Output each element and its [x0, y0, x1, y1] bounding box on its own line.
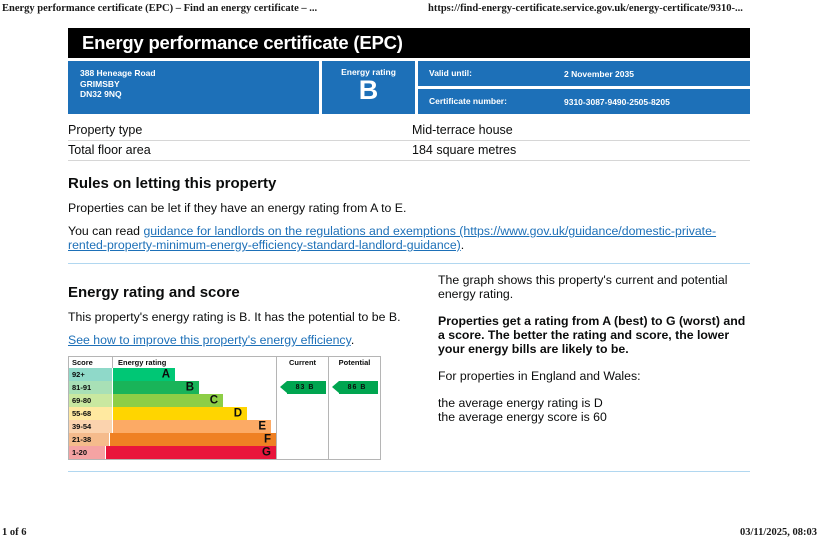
epc-band-letter: A [162, 369, 170, 381]
epc-current-value: 83 B [287, 381, 323, 394]
epc-bands: Score Energy rating 92+ A 81-91 B 69-80 … [69, 357, 276, 459]
certificate-page: Energy performance certificate (EPC) 388… [68, 28, 750, 472]
epc-band-b: 81-91 B [69, 381, 276, 394]
rules-paragraph-1: Properties can be let if they have an en… [68, 201, 750, 215]
epc-band-letter: C [210, 395, 218, 407]
epc-potential-value: 86 B [339, 381, 375, 394]
print-header: Energy performance certificate (EPC) – F… [0, 3, 820, 17]
energy-rating-letter: B [322, 76, 415, 104]
average-score-text: the average energy score is 60 [438, 410, 750, 424]
address-line-1: 388 Heneage Road [80, 68, 319, 79]
rating-paragraph: This property's energy rating is B. It h… [68, 310, 438, 324]
detail-value: 184 square metres [412, 143, 516, 157]
epc-band-e: 39-54 E [69, 420, 276, 433]
landlord-guidance-link[interactable]: guidance for landlords on the regulation… [68, 224, 716, 252]
epc-bar: E [113, 420, 271, 433]
epc-score-range: 55-68 [69, 407, 113, 420]
epc-score-range: 1-20 [69, 446, 106, 459]
detail-key: Total floor area [68, 143, 412, 157]
certificate-number-row: Certificate number: 9310-3087-9490-2505-… [418, 89, 750, 114]
certificate-meta: Valid until: 2 November 2035 Certificate… [418, 61, 750, 114]
epc-score-header: Score [69, 357, 113, 368]
section-divider [68, 263, 750, 264]
rules-suffix: . [461, 238, 464, 252]
valid-until-value: 2 November 2035 [564, 69, 634, 79]
rating-heading: Energy rating and score [68, 284, 438, 301]
section-divider-bottom [68, 471, 750, 472]
epc-band-g: 1-20 G [69, 446, 276, 459]
epc-score-range: 92+ [69, 368, 113, 381]
detail-key: Property type [68, 123, 412, 137]
rules-heading: Rules on letting this property [68, 175, 750, 192]
table-row: Property type Mid-terrace house [68, 121, 750, 141]
average-rating-text: the average energy rating is D [438, 396, 750, 410]
table-row: Total floor area 184 square metres [68, 141, 750, 161]
epc-score-range: 69-80 [69, 394, 113, 407]
improve-link-suffix: . [351, 333, 354, 347]
property-details-table: Property type Mid-terrace house Total fl… [68, 121, 750, 161]
epc-header-row: Score Energy rating [69, 357, 276, 368]
epc-band-letter: D [234, 408, 242, 420]
epc-score-range: 39-54 [69, 420, 113, 433]
epc-score-range: 81-91 [69, 381, 113, 394]
improve-paragraph: See how to improve this property's energ… [68, 333, 438, 347]
epc-bar: G [106, 446, 276, 459]
epc-bar: B [113, 381, 199, 394]
epc-band-letter: F [264, 434, 271, 446]
print-header-title: Energy performance certificate (EPC) – F… [2, 3, 317, 14]
valid-until-row: Valid until: 2 November 2035 [418, 61, 750, 86]
detail-value: Mid-terrace house [412, 123, 513, 137]
epc-current-arrow: 83 B [287, 381, 326, 394]
certificate-number-value: 9310-3087-9490-2505-8205 [564, 97, 670, 107]
rules-prefix: You can read [68, 224, 143, 238]
print-header-url: https://find-energy-certificate.service.… [428, 3, 743, 14]
energy-rating-badge: Energy rating B [322, 61, 415, 114]
epc-rating-chart: Score Energy rating 92+ A 81-91 B 69-80 … [68, 356, 381, 460]
graph-explainer-1: The graph shows this property's current … [438, 273, 750, 301]
rating-left-column: Energy rating and score This property's … [68, 270, 438, 460]
rules-paragraph-2: You can read guidance for landlords on t… [68, 224, 750, 252]
print-footer: 1 of 6 03/11/2025, 08:03 [0, 527, 820, 541]
print-footer-page: 1 of 6 [2, 527, 27, 538]
epc-band-d: 55-68 D [69, 407, 276, 420]
improve-efficiency-link[interactable]: See how to improve this property's energ… [68, 333, 351, 347]
epc-band-letter: G [262, 447, 271, 459]
rating-right-column: The graph shows this property's current … [438, 270, 750, 460]
epc-band-letter: B [186, 382, 194, 394]
epc-score-range: 21-38 [69, 433, 110, 446]
address-line-2: GRIMSBY [80, 79, 319, 90]
epc-potential-arrow: 86 B [339, 381, 378, 394]
epc-potential-header: Potential [329, 357, 380, 368]
certificate-summary: 388 Heneage Road GRIMSBY DN32 9NQ Energy… [68, 61, 750, 114]
property-address: 388 Heneage Road GRIMSBY DN32 9NQ [68, 61, 319, 114]
epc-band-a: 92+ A [69, 368, 276, 381]
print-footer-date: 03/11/2025, 08:03 [740, 527, 817, 538]
epc-band-letter: E [258, 421, 266, 433]
graph-explainer-3: For properties in England and Wales: [438, 369, 750, 383]
epc-rating-header: Energy rating [113, 357, 166, 368]
graph-explainer-2: Properties get a rating from A (best) to… [438, 314, 750, 356]
epc-current-column: Current 83 B [276, 357, 328, 459]
epc-band-c: 69-80 C [69, 394, 276, 407]
address-line-3: DN32 9NQ [80, 89, 319, 100]
rating-section: Energy rating and score This property's … [68, 270, 750, 460]
valid-until-label: Valid until: [429, 68, 564, 79]
epc-bar: D [113, 407, 247, 420]
epc-band-f: 21-38 F [69, 433, 276, 446]
epc-current-header: Current [277, 357, 328, 368]
epc-bar: A [113, 368, 175, 381]
page-title: Energy performance certificate (EPC) [68, 28, 750, 58]
epc-potential-column: Potential 86 B [328, 357, 380, 459]
epc-bar: F [110, 433, 276, 446]
certificate-number-label: Certificate number: [429, 96, 564, 107]
epc-bar: C [113, 394, 223, 407]
